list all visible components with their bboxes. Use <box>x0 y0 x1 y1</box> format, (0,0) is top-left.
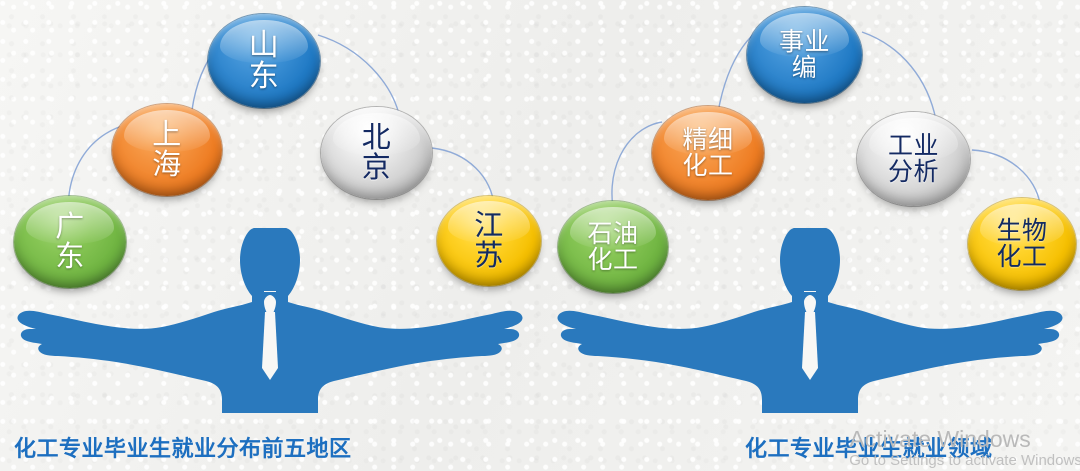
bubble-biochemical-line2: 化工 <box>996 244 1047 270</box>
bubble-biochemical-line1: 生物 <box>996 218 1047 244</box>
bubble-beijing[interactable]: 北 京 <box>321 107 432 199</box>
bubble-guangdong-line2: 东 <box>55 242 85 272</box>
bubble-petrochemical[interactable]: 石油 化工 <box>558 201 668 293</box>
bubble-jiangsu-label: 江 苏 <box>474 211 504 271</box>
bubble-fine-chemicals-line2: 化工 <box>682 153 733 179</box>
bubble-guangdong-line1: 广 <box>55 212 85 242</box>
bubble-industrial-analysis-line2: 分析 <box>888 159 939 185</box>
bubble-beijing-line1: 北 <box>362 123 392 153</box>
bubble-petrochemical-label: 石油 化工 <box>587 221 638 273</box>
bubble-shandong-label: 山 东 <box>249 30 280 92</box>
connector-public-industrial <box>862 32 936 120</box>
bubble-public-institution[interactable]: 事业 编 <box>747 7 862 103</box>
bubble-fine-chemicals[interactable]: 精细 化工 <box>652 106 764 200</box>
bubble-fine-chemicals-label: 精细 化工 <box>682 127 733 179</box>
connector-shandong-beijing <box>318 35 400 118</box>
bubble-public-institution-line2: 编 <box>779 55 830 81</box>
slide-canvas: 广 东 上 海 山 东 北 京 江 苏 <box>0 0 1080 471</box>
bubble-beijing-label: 北 京 <box>362 123 392 183</box>
bubble-shandong-line2: 东 <box>249 61 280 92</box>
bubble-biochemical-label: 生物 化工 <box>996 218 1047 270</box>
caption-employment-fields: 化工专业毕业生就业领域 <box>745 431 993 463</box>
bubble-jiangsu-line2: 苏 <box>474 241 504 271</box>
caption-employment-regions: 化工专业毕业生就业分布前五地区 <box>14 431 352 463</box>
bubble-industrial-analysis-label: 工业 分析 <box>888 133 939 185</box>
bubble-biochemical[interactable]: 生物 化工 <box>968 198 1076 290</box>
bubble-jiangsu[interactable]: 江 苏 <box>437 196 541 286</box>
bubble-petrochemical-line2: 化工 <box>587 247 638 273</box>
connector-industrial-bio <box>972 150 1040 204</box>
bubble-shandong-line1: 山 <box>249 30 280 61</box>
bubble-jiangsu-line1: 江 <box>474 211 504 241</box>
bubble-beijing-line2: 京 <box>362 153 392 183</box>
bubble-industrial-analysis[interactable]: 工业 分析 <box>857 112 970 206</box>
bubble-public-institution-label: 事业 编 <box>779 29 830 81</box>
panel-employment-fields: 石油 化工 精细 化工 事业 编 工业 分析 生物 化工 <box>540 0 1080 471</box>
bubble-shandong[interactable]: 山 东 <box>208 14 320 108</box>
bubble-guangdong-label: 广 东 <box>55 212 85 272</box>
bubble-petrochemical-line1: 石油 <box>587 221 638 247</box>
bubble-shanghai-line1: 上 <box>152 120 182 150</box>
bubble-industrial-analysis-line1: 工业 <box>888 133 939 159</box>
bubble-shanghai-label: 上 海 <box>152 120 182 180</box>
bubble-shanghai-line2: 海 <box>152 150 182 180</box>
bubble-shanghai[interactable]: 上 海 <box>112 104 222 196</box>
panel-employment-regions: 广 东 上 海 山 东 北 京 江 苏 <box>0 0 540 471</box>
bubble-fine-chemicals-line1: 精细 <box>682 127 733 153</box>
bubble-guangdong[interactable]: 广 东 <box>14 196 126 288</box>
bubble-public-institution-line1: 事业 <box>779 29 830 55</box>
